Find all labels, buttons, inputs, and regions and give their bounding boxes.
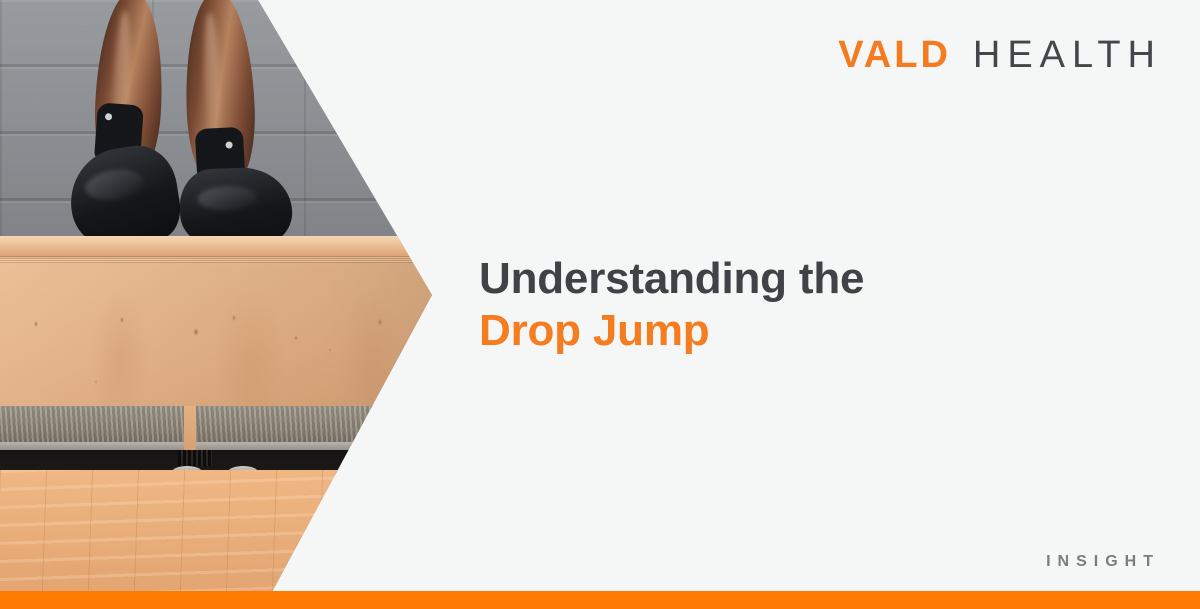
sock-logo-icon [225, 141, 232, 148]
force-plate-left [0, 406, 184, 444]
title-line-2: Drop Jump [479, 305, 864, 357]
bottom-accent-bar [0, 591, 1200, 609]
photo-stage [0, 0, 460, 592]
logo-wordmark-health: HEALTH [973, 36, 1162, 74]
plyo-box [0, 236, 460, 408]
vald-health-logo: VALD HEALTH [838, 36, 1162, 74]
title-line-1: Understanding the [479, 253, 864, 305]
plyo-box-top [0, 236, 460, 258]
hero-photo [0, 0, 460, 592]
page-title: Understanding the Drop Jump [479, 253, 864, 357]
logo-wordmark-vald: VALD [838, 36, 951, 74]
shoe-highlight [84, 166, 146, 204]
shoe-highlight [197, 185, 258, 211]
force-plate-right [196, 406, 460, 444]
hardwood-floor [0, 470, 460, 592]
force-plates [0, 406, 460, 462]
force-plate-cable [178, 450, 212, 466]
category-label-insight: INSIGHT [1046, 553, 1160, 571]
plywood-grain [0, 262, 460, 408]
sock-logo-icon [105, 113, 112, 120]
slide-canvas: VALD HEALTH Understanding the Drop Jump … [0, 0, 1200, 609]
